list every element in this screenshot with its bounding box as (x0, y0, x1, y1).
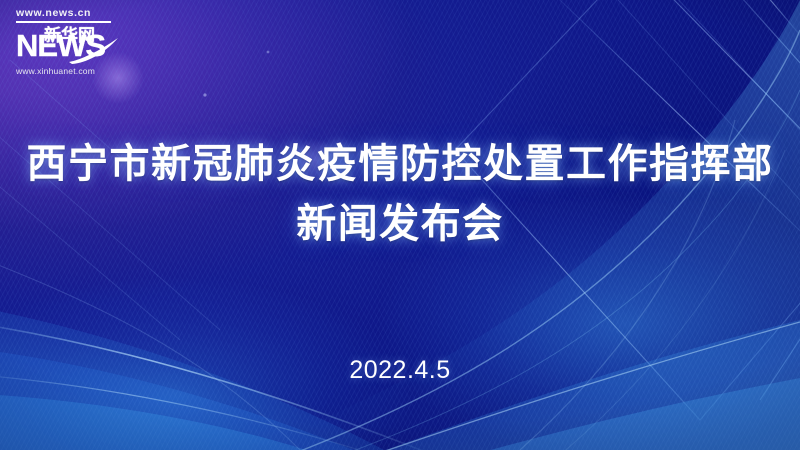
title-line-2: 新闻发布会 (0, 198, 800, 250)
press-conference-banner: www.news.cn NEWS 新华网 www.xinhuanet.com 西… (0, 0, 800, 450)
logo-top-url: www.news.cn (16, 8, 111, 23)
banner-date-wrapper: 2022.4.5 (0, 356, 800, 385)
logo-wordmark-group: NEWS 新华网 (16, 26, 120, 66)
swoosh-icon (68, 38, 120, 64)
logo-bottom-url: www.xinhuanet.com (16, 67, 120, 76)
banner-title: 西宁市新冠肺炎疫情防控处置工作指挥部 新闻发布会 (0, 138, 800, 250)
banner-date: 2022.4.5 (349, 356, 450, 384)
title-line-1: 西宁市新冠肺炎疫情防控处置工作指挥部 (0, 138, 800, 190)
xinhua-logo[interactable]: www.news.cn NEWS 新华网 www.xinhuanet.com (16, 8, 120, 75)
